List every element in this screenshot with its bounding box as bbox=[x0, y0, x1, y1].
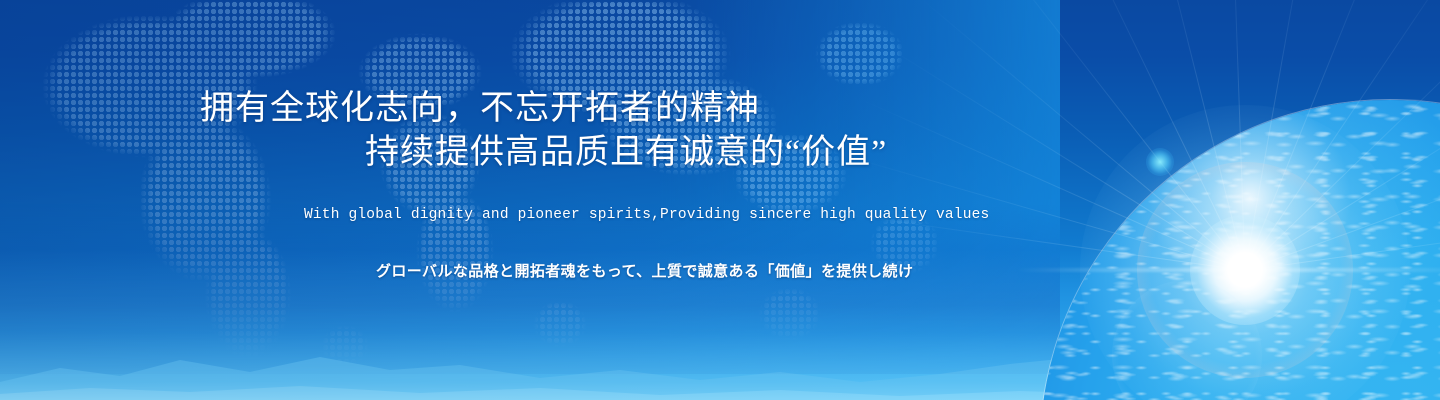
sun-horizontal-streak bbox=[1015, 268, 1440, 272]
lens-flare-dot-icon bbox=[1146, 148, 1174, 176]
horizon-glow bbox=[0, 250, 1440, 400]
banner-copy: 拥有全球化志向，不忘开拓者的精神 持续提供高品质且有诚意的“价值” With g… bbox=[0, 0, 1060, 400]
headline-line-2: 持续提供高品质且有诚意的“价值” bbox=[365, 136, 887, 170]
dotted-world-map bbox=[0, 0, 1060, 374]
sun-core bbox=[1190, 215, 1300, 325]
planet-graphic bbox=[1040, 100, 1440, 400]
subtitle-japanese: グローバルな品格と開拓者魂をもって、上質で誠意ある「価値」を提供し続け bbox=[376, 260, 913, 281]
sun-halo-ring bbox=[1137, 162, 1353, 378]
planet-atmosphere bbox=[980, 40, 1440, 400]
world-map-dot-grid bbox=[0, 0, 1060, 374]
planet-sphere bbox=[1040, 100, 1440, 400]
subtitle-english: With global dignity and pioneer spirits,… bbox=[304, 207, 989, 223]
lens-flare-ring bbox=[1112, 280, 1262, 400]
world-map-fade-overlay bbox=[0, 0, 1060, 374]
planet-surface-texture bbox=[1040, 100, 1440, 400]
sun-bloom bbox=[1080, 105, 1410, 400]
headline-line-1: 拥有全球化志向，不忘开拓者的精神 bbox=[200, 92, 760, 126]
mountain-silhouette bbox=[0, 310, 1440, 400]
background-side-tint bbox=[0, 0, 1440, 400]
planet-limb-rim bbox=[1033, 93, 1440, 400]
hero-banner: 拥有全球化志向，不忘开拓者的精神 持续提供高品质且有诚意的“价值” With g… bbox=[0, 0, 1440, 400]
